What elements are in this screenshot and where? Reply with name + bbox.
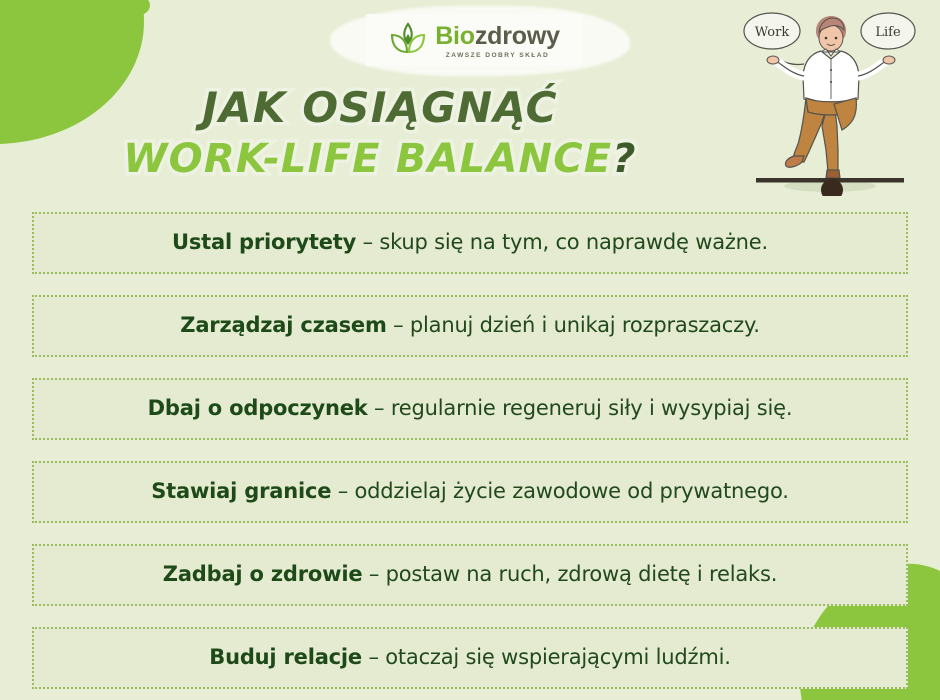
logo-wordmark: Biozdrowy <box>435 24 560 49</box>
list-item: Ustal priorytety – skup się na tym, co n… <box>32 212 908 274</box>
list-item: Stawiaj granice – oddzielaj życie zawodo… <box>32 461 908 523</box>
bubble-label-work: Work <box>755 25 790 40</box>
tip-lead: Buduj relacje <box>209 645 362 669</box>
bubble-label-life: Life <box>875 25 901 40</box>
logo-text: Biozdrowy ZAWSZE DOBRY SKŁAD <box>435 24 560 59</box>
tip-lead: Ustal priorytety <box>172 230 356 254</box>
tip-rest: – postaw na ruch, zdrową dietę i relaks. <box>362 562 777 586</box>
list-item: Dbaj o odpoczynek – regularnie regeneruj… <box>32 378 908 440</box>
infographic-poster: Biozdrowy ZAWSZE DOBRY SKŁAD JAK OSIĄGNĄ… <box>0 0 940 700</box>
list-item: Zadbaj o zdrowie – postaw na ruch, zdrow… <box>32 544 908 606</box>
tips-list: Ustal priorytety – skup się na tym, co n… <box>32 212 908 689</box>
page-title: JAK OSIĄGNĄĆ WORK-LIFE BALANCE? <box>0 86 760 180</box>
headline-question-mark: ? <box>612 136 636 182</box>
tip-text: Zadbaj o zdrowie – postaw na ruch, zdrow… <box>151 562 789 587</box>
headline-line-2-text: WORK-LIFE BALANCE <box>123 136 612 182</box>
tip-text: Buduj relacje – otaczaj się wspierającym… <box>197 645 742 670</box>
logo-word-bio: Bio <box>435 22 475 50</box>
tip-rest: – regularnie regeneruj siły i wysypiaj s… <box>368 396 793 420</box>
brand-logo: Biozdrowy ZAWSZE DOBRY SKŁAD <box>366 14 582 68</box>
tip-lead: Dbaj o odpoczynek <box>148 396 368 420</box>
headline-line-1: JAK OSIĄGNĄĆ <box>0 86 760 131</box>
logo-tagline: ZAWSZE DOBRY SKŁAD <box>446 52 549 59</box>
tip-lead: Zadbaj o zdrowie <box>163 562 363 586</box>
tip-text: Zarządzaj czasem – planuj dzień i unikaj… <box>168 313 771 338</box>
tip-rest: – otaczaj się wspierającymi ludźmi. <box>362 645 731 669</box>
tip-rest: – skup się na tym, co naprawdę ważne. <box>356 230 768 254</box>
list-item: Buduj relacje – otaczaj się wspierającym… <box>32 627 908 689</box>
logo-word-zdrowy: zdrowy <box>475 22 560 50</box>
tip-text: Ustal priorytety – skup się na tym, co n… <box>160 230 780 255</box>
headline-line-2: WORK-LIFE BALANCE? <box>0 138 760 180</box>
list-item: Zarządzaj czasem – planuj dzień i unikaj… <box>32 295 908 357</box>
tip-text: Dbaj o odpoczynek – regularnie regeneruj… <box>136 396 805 421</box>
tip-lead: Zarządzaj czasem <box>180 313 386 337</box>
man-balancing-on-plank-illustration: Work Life <box>742 4 918 196</box>
tip-text: Stawiaj granice – oddzielaj życie zawodo… <box>139 479 801 504</box>
tip-lead: Stawiaj granice <box>151 479 331 503</box>
tip-rest: – oddzielaj życie zawodowe od prywatnego… <box>331 479 788 503</box>
tip-rest: – planuj dzień i unikaj rozpraszaczy. <box>387 313 760 337</box>
leaf-logo-icon <box>388 21 428 61</box>
